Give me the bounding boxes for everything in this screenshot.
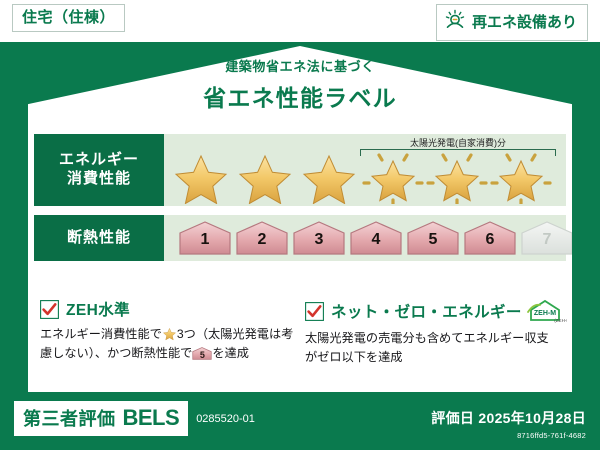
svg-text:ZEH-M: ZEH-M bbox=[534, 310, 556, 317]
criteria-zeh-header: ZEH水準 bbox=[40, 298, 295, 320]
insulation-grade-inline-icon: 5 bbox=[192, 346, 212, 361]
insulation-grade-badge-2: 2 bbox=[235, 220, 289, 256]
bels-badge: 第三者評価 BELS bbox=[14, 401, 188, 436]
renewable-badge-label: 再エネ設備あり bbox=[472, 15, 577, 30]
title-block: 建築物省エネ法に基づく 省エネ性能ラベル bbox=[28, 56, 572, 113]
insulation-performance-row: 断熱性能 bbox=[34, 215, 566, 261]
insulation-grade-badge-4: 4 bbox=[349, 220, 403, 256]
criteria-nze-title: ネット・ゼロ・エネルギー bbox=[331, 300, 522, 322]
label-title: 省エネ性能ラベル bbox=[28, 79, 572, 113]
rating-star-3 bbox=[298, 150, 360, 204]
star-icon bbox=[162, 326, 177, 341]
criteria-zeh-text-post: を達成 bbox=[212, 346, 249, 360]
document-hash: 8716ffd5-761f-4682 bbox=[431, 431, 586, 440]
criteria-nze-header: ネット・ゼロ・エネルギー ZEH-M (ZEH-M) bbox=[305, 298, 560, 324]
insulation-grade-badge-7: 7 bbox=[520, 220, 574, 256]
energy-performance-label: 住宅（住棟） 再エネ設備あり bbox=[0, 0, 600, 450]
solar-bracket-label: 太陽光発電(自家消費)分 bbox=[360, 136, 556, 149]
rating-star-solar-5 bbox=[426, 150, 488, 204]
criteria-net-zero-energy: ネット・ゼロ・エネルギー ZEH-M (ZEH-M) 太陽光発電の売電分も含めて… bbox=[305, 298, 560, 367]
evaluation-date-block: 評価日 2025年10月28日 8716ffd5-761f-4682 bbox=[431, 408, 586, 440]
third-party-eval-label: 第三者評価 bbox=[23, 405, 116, 431]
rating-star-1 bbox=[170, 150, 232, 204]
insulation-grade-number: 2 bbox=[235, 231, 289, 249]
energy-label-line1: エネルギー bbox=[59, 151, 139, 170]
svg-text:(ZEH-M): (ZEH-M) bbox=[554, 318, 567, 323]
insulation-performance-label: 断熱性能 bbox=[34, 215, 164, 261]
energy-rating-stars-panel: 太陽光発電(自家消費)分 bbox=[164, 134, 566, 206]
performance-rows: エネルギー 消費性能 太陽光発電(自家消費)分 bbox=[34, 134, 566, 270]
label-subtitle: 建築物省エネ法に基づく bbox=[28, 56, 572, 75]
building-type-tab: 住宅（住棟） bbox=[12, 4, 125, 32]
star-rating-group bbox=[170, 150, 560, 204]
top-strip: 住宅（住棟） 再エネ設備あり bbox=[0, 0, 600, 42]
bels-wordmark: BELS bbox=[123, 405, 180, 431]
insulation-grade-number: 5 bbox=[406, 231, 460, 249]
insulation-grade-number: 4 bbox=[349, 231, 403, 249]
energy-performance-row: エネルギー 消費性能 太陽光発電(自家消費)分 bbox=[34, 134, 566, 206]
renewable-equipment-badge: 再エネ設備あり bbox=[436, 4, 588, 41]
insulation-grade-number: 3 bbox=[292, 231, 346, 249]
criteria-zeh-title: ZEH水準 bbox=[66, 298, 130, 320]
insulation-grade-number: 1 bbox=[178, 231, 232, 249]
energy-performance-label: エネルギー 消費性能 bbox=[34, 134, 164, 206]
insulation-grade-badge-5: 5 bbox=[406, 220, 460, 256]
checkbox-checked-icon bbox=[305, 302, 324, 321]
zeh-m-logo-icon: ZEH-M (ZEH-M) bbox=[527, 298, 567, 324]
criteria-zeh-standard: ZEH水準 エネルギー消費性能で3つ（太陽光発電は考慮しない）、かつ断熱性能で5… bbox=[40, 298, 295, 367]
rating-star-2 bbox=[234, 150, 296, 204]
evaluation-date-line: 評価日 2025年10月28日 bbox=[431, 408, 586, 428]
insulation-grade-badge-6: 6 bbox=[463, 220, 517, 256]
energy-label-line2: 消費性能 bbox=[67, 170, 131, 189]
solar-sun-icon bbox=[444, 9, 466, 36]
criteria-zeh-description: エネルギー消費性能で3つ（太陽光発電は考慮しない）、かつ断熱性能で5を達成 bbox=[40, 325, 295, 363]
rating-star-solar-4 bbox=[362, 150, 424, 204]
evaluation-date-value: 2025年10月28日 bbox=[478, 410, 586, 426]
criteria-section: ZEH水準 エネルギー消費性能で3つ（太陽光発電は考慮しない）、かつ断熱性能で5… bbox=[40, 298, 560, 367]
evaluation-date-label: 評価日 bbox=[431, 410, 474, 426]
insulation-grade-panel: 1 2 3 bbox=[164, 215, 566, 261]
criteria-nze-description: 太陽光発電の売電分も含めてエネルギー収支がゼロ以下を達成 bbox=[305, 329, 560, 367]
insulation-grade-number: 6 bbox=[463, 231, 517, 249]
bels-certification-block: 第三者評価 BELS 0285520-01 bbox=[14, 401, 255, 436]
checkbox-checked-icon bbox=[40, 300, 59, 319]
label-body-panel: 建築物省エネ法に基づく 省エネ性能ラベル エネルギー 消費性能 太陽光発電(自家… bbox=[28, 46, 572, 392]
certificate-number: 0285520-01 bbox=[196, 413, 255, 425]
insulation-grade-inline-number: 5 bbox=[192, 349, 212, 363]
insulation-grade-badge-1: 1 bbox=[178, 220, 232, 256]
insulation-label-text: 断熱性能 bbox=[67, 229, 131, 248]
insulation-grade-group: 1 2 3 bbox=[178, 220, 552, 256]
insulation-grade-badge-3: 3 bbox=[292, 220, 346, 256]
insulation-grade-number: 7 bbox=[520, 231, 574, 249]
criteria-zeh-text-pre: エネルギー消費性能で bbox=[40, 327, 162, 341]
footer: 第三者評価 BELS 0285520-01 評価日 2025年10月28日 87… bbox=[0, 392, 600, 450]
rating-star-solar-6 bbox=[490, 150, 552, 204]
